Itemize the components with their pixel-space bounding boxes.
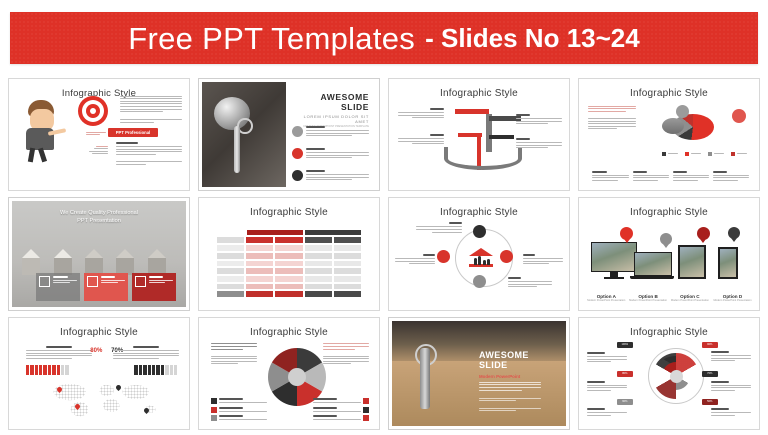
slide-thumbnail-1[interactable]: Infographic Style PPT Profession xyxy=(8,78,190,191)
slide-1-body-text xyxy=(120,94,182,125)
cycle-node-image-icon[interactable] xyxy=(473,225,486,238)
slide-thumbnail-grid: Infographic Style PPT Profession xyxy=(8,78,760,430)
tag-1: 100% xyxy=(617,342,633,348)
group-header-dark xyxy=(304,229,362,237)
cycle-node-user-icon[interactable] xyxy=(473,275,486,288)
banner-title-main: Free PPT Templates xyxy=(128,23,415,54)
businessman-illustration xyxy=(18,100,70,158)
slide-10-left-items xyxy=(211,398,267,422)
slide-thumbnail-2[interactable]: AWESOME SLIDE LOREM IPSUM DOLOR SIT AMET… xyxy=(198,78,380,191)
slide-5-overlay-title: We Create Quality Professional xyxy=(12,209,186,217)
tag-2: 80% xyxy=(617,371,633,377)
slide-thumbnail-9[interactable]: Infographic Style 80% 70% xyxy=(8,317,190,430)
slide-10-right-items xyxy=(313,398,369,422)
slide-12-text-3 xyxy=(587,408,627,417)
option-c-label: Option C Modern PowerPoint Presentation xyxy=(671,294,709,303)
chat-icon xyxy=(292,148,303,159)
slide-7-label-1 xyxy=(416,222,462,234)
slide-3-label-right-1 xyxy=(516,114,562,126)
laptop-icon xyxy=(87,276,98,287)
slide-1-allppt-text xyxy=(84,144,108,156)
option-b-label: Option B Modern PowerPoint Presentation xyxy=(629,294,667,303)
table-row xyxy=(216,275,362,283)
slide-thumbnail-10[interactable]: Infographic Style xyxy=(198,317,380,430)
comparison-table xyxy=(216,229,362,299)
slide-thumbnail-8[interactable]: Infographic Style xyxy=(578,197,760,310)
slide-10-right-heading xyxy=(323,342,369,366)
pie-chart xyxy=(662,114,714,148)
table-footer-row xyxy=(216,290,362,298)
people-pictogram-red xyxy=(26,365,69,375)
ppt-template-preview-sheet: Free PPT Templates - Slides No 13~24 Inf… xyxy=(0,0,768,435)
slide-thumbnail-5[interactable]: We Create Quality Professional PPT Prese… xyxy=(8,197,190,310)
slide-11-heading-group: AWESOME SLIDE Modern PowerPoint xyxy=(479,350,559,413)
slide-7-label-3 xyxy=(523,254,563,266)
slide-11-subtitle: Modern PowerPoint xyxy=(479,374,559,379)
slide-2-heading-group: AWESOME SLIDE LOREM IPSUM DOLOR SIT AMET… xyxy=(292,92,369,128)
slide-2-bullet-3 xyxy=(292,170,369,182)
red-arrow-branch-1 xyxy=(455,109,490,114)
slide-thumbnail-4[interactable]: Infographic Style xyxy=(578,78,760,191)
slide-10-title: Infographic Style xyxy=(202,327,376,338)
slide-2-bullet-2 xyxy=(292,148,369,160)
slide-3-label-left-2 xyxy=(398,134,444,146)
slide-2-subtitle: LOREM IPSUM DOLOR SIT AMET xyxy=(292,114,369,124)
table-row xyxy=(216,260,362,268)
people-pictogram-dark xyxy=(134,365,177,375)
slide-12-text-1 xyxy=(587,352,627,364)
option-a-label: Option A Modern PowerPoint Presentation xyxy=(585,294,627,303)
slide-12-text-6 xyxy=(711,408,751,417)
slide-thumbnail-11[interactable]: AWESOME SLIDE Modern PowerPoint xyxy=(388,317,570,430)
pin-option-a[interactable] xyxy=(620,227,633,240)
slide-7-label-2 xyxy=(395,254,435,266)
tag-5: 70% xyxy=(702,371,718,377)
slide-4-columns xyxy=(592,171,749,183)
table-group-header-row xyxy=(216,229,362,237)
slide-3-label-left-1 xyxy=(398,108,444,120)
slide-8-title: Infographic Style xyxy=(582,207,756,218)
option-d-label: Option D Modern PowerPoint Presentation xyxy=(713,294,753,303)
card-laptop[interactable] xyxy=(84,273,128,301)
slide-thumbnail-12[interactable]: Infographic Style 100% 80% 60% 90% xyxy=(578,317,760,430)
slide-4-title: Infographic Style xyxy=(582,88,756,99)
slide-9-stat-text-left xyxy=(26,346,92,360)
user-icon xyxy=(292,126,303,137)
table-row xyxy=(216,267,362,275)
slide-10-left-heading xyxy=(211,342,257,366)
device-laptop xyxy=(634,252,674,279)
slide-thumbnail-3[interactable]: Infographic Style xyxy=(388,78,570,191)
pin-option-d[interactable] xyxy=(728,227,740,239)
house-family-icon xyxy=(469,248,493,268)
slide-4-highlight-block xyxy=(588,104,636,131)
device-phone xyxy=(718,247,738,279)
dark-arrow-branch-2 xyxy=(489,135,513,139)
card-document[interactable] xyxy=(36,273,80,301)
slide-1-portfolio-block xyxy=(116,142,182,166)
table-sub-header-row xyxy=(216,236,362,244)
tag-3: 60% xyxy=(617,399,633,405)
radial-chart xyxy=(648,348,704,404)
table-row xyxy=(216,244,362,252)
group-header-red xyxy=(246,229,304,237)
slide-thumbnail-6[interactable]: Infographic Style xyxy=(198,197,380,310)
slide-3-title: Infographic Style xyxy=(392,88,566,99)
cycle-node-alert-icon[interactable] xyxy=(437,250,450,263)
stat-value-red: 80% xyxy=(90,348,102,354)
slide-2-title: AWESOME SLIDE xyxy=(292,92,369,112)
slide-5-overlay-subtitle: PPT Presentation xyxy=(12,217,186,225)
card-monitor[interactable] xyxy=(132,273,176,301)
slide-5-overlay-text: We Create Quality Professional PPT Prese… xyxy=(12,209,186,225)
slide-2-bullet-1 xyxy=(292,126,369,138)
slide-9-stat-text-right xyxy=(113,346,179,360)
pie-label-right xyxy=(732,109,746,123)
pin-option-b[interactable] xyxy=(660,233,672,245)
slide-7-label-4 xyxy=(508,277,552,289)
keys-in-lock-photo xyxy=(202,82,286,187)
slide-3-label-right-2 xyxy=(516,138,562,150)
document-icon xyxy=(39,276,50,287)
table-row xyxy=(216,283,362,291)
slide-thumbnail-7[interactable]: Infographic Style xyxy=(388,197,570,310)
slide-12-text-5 xyxy=(711,381,751,393)
slide-6-title: Infographic Style xyxy=(202,207,376,218)
slide-1-label-group xyxy=(86,130,106,137)
slide-9-title: Infographic Style xyxy=(12,327,186,338)
pin-option-c[interactable] xyxy=(697,227,710,240)
monitor-icon xyxy=(135,276,146,287)
cycle-node-search-icon[interactable] xyxy=(500,250,513,263)
device-monitor xyxy=(591,242,637,279)
red-arrow-branch-2 xyxy=(458,133,482,137)
ppt-professional-badge: PPT Professional xyxy=(108,128,158,137)
slide-12-title: Infographic Style xyxy=(582,327,756,338)
table-row xyxy=(216,252,362,260)
header-banner: Free PPT Templates - Slides No 13~24 xyxy=(10,12,758,64)
slide-7-title: Infographic Style xyxy=(392,207,566,218)
banner-title-sub: - Slides No 13~24 xyxy=(425,25,640,51)
tag-6: 50% xyxy=(702,399,718,405)
device-tablet xyxy=(678,245,706,279)
slide-12-text-2 xyxy=(587,381,627,393)
arrow-base-curve xyxy=(444,147,522,170)
slide-12-text-4 xyxy=(711,351,751,363)
slide-5-cards xyxy=(36,273,175,301)
cloud-icon xyxy=(292,170,303,181)
pie-legend xyxy=(662,152,747,156)
slide-11-title: AWESOME SLIDE xyxy=(479,350,559,371)
tag-4: 90% xyxy=(702,342,718,348)
